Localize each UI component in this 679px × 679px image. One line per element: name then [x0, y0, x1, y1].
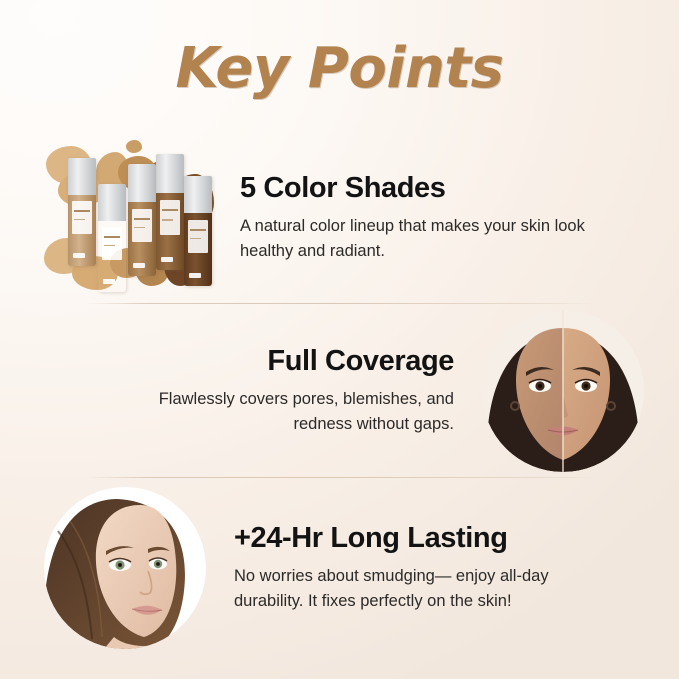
tube-shade-number: [133, 263, 145, 268]
key-points-infographic: Key Points: [0, 0, 679, 679]
tube-cap: [184, 176, 212, 213]
lasting-heading: +24-Hr Long Lasting: [234, 522, 644, 555]
shades-text-block: 5 Color Shades A natural color lineup th…: [224, 172, 644, 265]
tube-label: [188, 220, 208, 253]
foundation-tube: [68, 158, 96, 266]
foundation-tubes-image: [44, 138, 224, 298]
lasting-text-block: +24-Hr Long Lasting No worries about smu…: [224, 522, 644, 615]
coverage-body: Flawlessly covers pores, blemishes, and …: [124, 387, 454, 437]
coverage-heading: Full Coverage: [44, 345, 454, 378]
tube-label: [132, 209, 152, 243]
tube-cap: [68, 158, 96, 195]
model-face-illustration: [44, 487, 206, 649]
tube-cap: [98, 184, 126, 221]
section-coverage: Full Coverage Flawlessly covers pores, b…: [44, 306, 644, 476]
tube-cap: [128, 164, 156, 202]
tube-label: [72, 201, 92, 233]
shades-body: A natural color lineup that makes your s…: [240, 214, 612, 264]
tube-label: [102, 227, 122, 259]
section-divider: [86, 303, 594, 304]
section-divider: [86, 477, 594, 478]
coverage-text-block: Full Coverage Flawlessly covers pores, b…: [44, 345, 468, 438]
page-title: Key Points: [176, 36, 504, 101]
foundation-tube: [98, 184, 126, 292]
before-after-face-illustration: [482, 310, 644, 472]
page-title-container: Key Points: [0, 36, 679, 101]
shades-heading: 5 Color Shades: [240, 172, 644, 205]
foundation-tube: [156, 154, 184, 270]
lasting-body: No worries about smudging— enjoy all-day…: [234, 564, 606, 614]
foundation-tube: [128, 164, 156, 276]
section-lasting: +24-Hr Long Lasting No worries about smu…: [44, 482, 644, 654]
model-face-photo: [44, 487, 206, 649]
before-after-face-photo: [482, 310, 644, 472]
tube-cap: [156, 154, 184, 193]
tube-shade-number: [189, 273, 201, 278]
tube-label: [160, 200, 180, 235]
foundation-tube: [184, 176, 212, 286]
tube-shade-number: [73, 253, 85, 258]
section-shades: 5 Color Shades A natural color lineup th…: [44, 138, 644, 298]
tube-shade-number: [161, 257, 173, 262]
tube-shade-number: [103, 279, 115, 284]
foundation-swatch-blob: [126, 140, 142, 153]
